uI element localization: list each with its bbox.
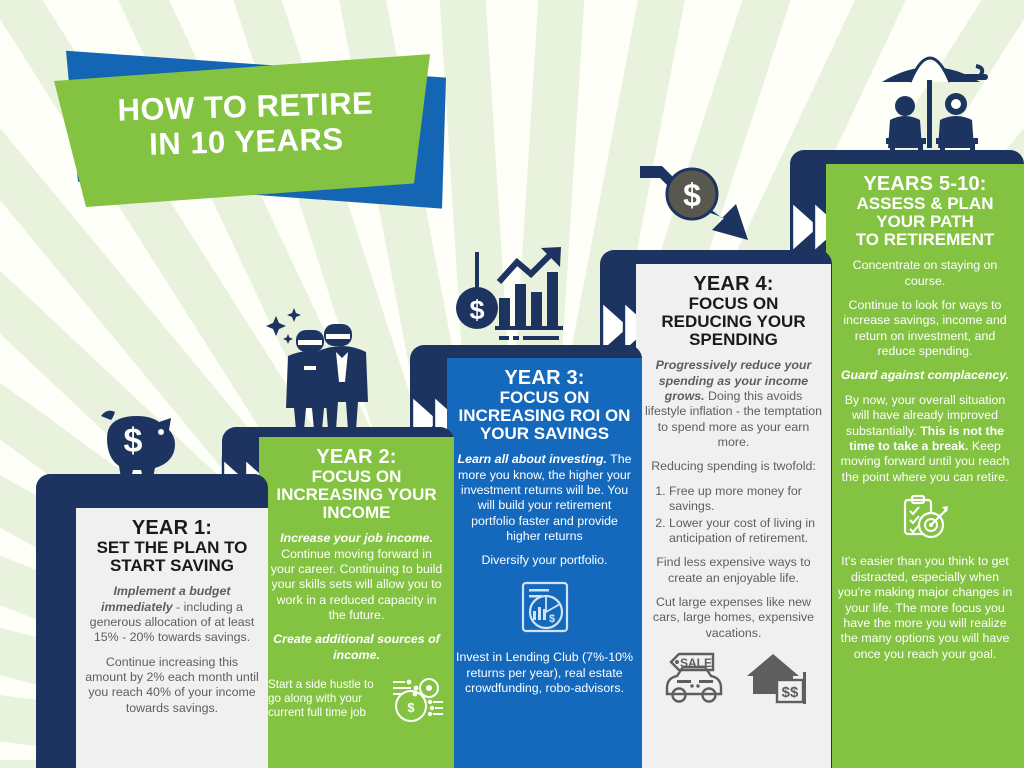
twofold-list: Free up more money for savings. Lower yo… <box>659 484 822 547</box>
business-people-icon <box>262 304 372 430</box>
paragraph: Cut large expenses like new cars, large … <box>645 595 822 641</box>
paragraph: Reducing spending is twofold: <box>645 459 822 474</box>
icon-row: SALE $$ <box>645 650 822 706</box>
panel-body-year-2: Increase your job income. Continue movin… <box>268 531 445 726</box>
panel-year-4: YEAR 4: FOCUS ON REDUCING YOUR SPENDING … <box>636 264 831 768</box>
paragraph: Increase your job income. Continue movin… <box>268 531 445 623</box>
text-run-emphasis: Increase your job income. <box>280 531 433 545</box>
panel-subtitle-3: TO RETIREMENT <box>835 231 1015 249</box>
panel-year-3: YEAR 3: FOCUS ON INCREASING ROI ON YOUR … <box>447 358 642 768</box>
panel-subtitle-3: INCOME <box>268 504 445 522</box>
panel-body-year-3: Learn all about investing. The more you … <box>456 452 633 696</box>
panel-year-label: YEAR 2: <box>268 447 445 468</box>
paragraph: It's easier than you think to get distra… <box>835 554 1015 662</box>
panel-years-5-10: YEARS 5-10: ASSESS & PLAN YOUR PATH TO R… <box>826 164 1024 768</box>
paragraph: By now, your overall situation will have… <box>835 393 1015 485</box>
pie-chart-report-icon: $ <box>516 578 574 636</box>
paragraph: Concentrate on staying on course. <box>835 258 1015 289</box>
panel-subtitle-2: START SAVING <box>85 557 259 575</box>
growth-chart-dollar-icon: $ <box>455 246 573 346</box>
panel-subtitle-2: INCREASING YOUR <box>268 486 445 504</box>
panel-subtitle-2: REDUCING YOUR <box>645 313 822 331</box>
panel-year-2: YEAR 2: FOCUS ON INCREASING YOUR INCOME … <box>259 437 454 768</box>
svg-text:$: $ <box>124 422 143 460</box>
paragraph-emphasis: Create additional sources of income. <box>268 632 445 663</box>
paragraph: Learn all about investing. The more you … <box>456 452 633 544</box>
panel-subtitle-1: SET THE PLAN TO <box>85 539 259 557</box>
panel-subtitle-1: FOCUS ON <box>268 468 445 486</box>
panel-subtitle-1: FOCUS ON <box>456 389 633 407</box>
panel-title-year-2: YEAR 2: FOCUS ON INCREASING YOUR INCOME <box>268 447 445 522</box>
svg-text:$: $ <box>683 177 701 213</box>
panel-title-years-5-10: YEARS 5-10: ASSESS & PLAN YOUR PATH TO R… <box>835 174 1015 249</box>
panel-year-label: YEARS 5-10: <box>835 174 1015 195</box>
list-item: Free up more money for savings. <box>669 484 822 515</box>
list-item: Lower your cost of living in anticipatio… <box>669 516 822 547</box>
paragraph: Continue increasing this amount by 2% ea… <box>85 655 259 717</box>
page-title: HOW TO RETIRE IN 10 YEARS <box>44 38 449 217</box>
text-run-emphasis: Learn all about investing. <box>458 452 607 466</box>
svg-text:$: $ <box>548 613 554 625</box>
house-money-icon: $$ <box>743 650 809 706</box>
paragraph: Continue to look for ways to increase sa… <box>835 298 1015 360</box>
panel-title-year-1: YEAR 1: SET THE PLAN TO START SAVING <box>85 518 259 575</box>
panel-body-year-4: Progressively reduce your spending as yo… <box>645 358 822 706</box>
beach-umbrella-retirement-icon <box>872 52 990 157</box>
paragraph: Invest in Lending Club (7%-10% returns p… <box>456 650 633 696</box>
car-for-sale-icon: SALE <box>659 650 731 706</box>
panel-year-label: YEAR 4: <box>645 274 822 295</box>
panel-subtitle-1: ASSESS & PLAN <box>835 195 1015 213</box>
panel-subtitle-3: SPENDING <box>645 331 822 349</box>
page-title-line-2: IN 10 YEARS <box>149 122 344 162</box>
panel-year-label: YEAR 3: <box>456 368 633 389</box>
panel-body-years-5-10: Concentrate on staying on course. Contin… <box>835 258 1015 662</box>
icon-row: $ <box>456 578 633 640</box>
panel-year-1: YEAR 1: SET THE PLAN TO START SAVING Imp… <box>76 508 268 768</box>
svg-text:SALE: SALE <box>679 656 711 670</box>
panel-year-label: YEAR 1: <box>85 518 259 539</box>
panel-subtitle-1: FOCUS ON <box>645 295 822 313</box>
side-hustle-row: Start a side hustle to go along with you… <box>268 672 445 726</box>
side-hustle-text: Start a side hustle to go along with you… <box>268 678 383 720</box>
svg-text:$$: $$ <box>781 684 798 701</box>
panel-body-year-1: Implement a budget immediately - includi… <box>85 584 259 716</box>
piggy-bank-icon: $ <box>85 392 195 484</box>
panel-subtitle-2: YOUR PATH <box>835 213 1015 231</box>
paragraph: Implement a budget immediately - includi… <box>85 584 259 646</box>
panel-subtitle-2: INCREASING ROI ON <box>456 407 633 425</box>
text-run: Continue moving forward in your career. … <box>271 547 443 623</box>
panel-title-year-3: YEAR 3: FOCUS ON INCREASING ROI ON YOUR … <box>456 368 633 443</box>
panel-subtitle-3: YOUR SAVINGS <box>456 425 633 443</box>
paragraph: Find less expensive ways to create an en… <box>645 555 822 586</box>
paragraph: Progressively reduce your spending as yo… <box>645 358 822 450</box>
paragraph: Diversify your portfolio. <box>456 553 633 568</box>
panel-title-year-4: YEAR 4: FOCUS ON REDUCING YOUR SPENDING <box>645 274 822 349</box>
svg-text:$: $ <box>469 295 484 325</box>
paragraph-emphasis: Guard against complacency. <box>835 368 1015 383</box>
clipboard-target-icon <box>895 494 955 544</box>
title-banner: HOW TO RETIRE IN 10 YEARS <box>46 44 446 212</box>
declining-arrow-dollar-icon: $ <box>640 152 766 257</box>
icon-row <box>835 494 1015 548</box>
side-hustle-gear-icon: $ <box>389 672 445 726</box>
svg-text:$: $ <box>407 700 415 715</box>
